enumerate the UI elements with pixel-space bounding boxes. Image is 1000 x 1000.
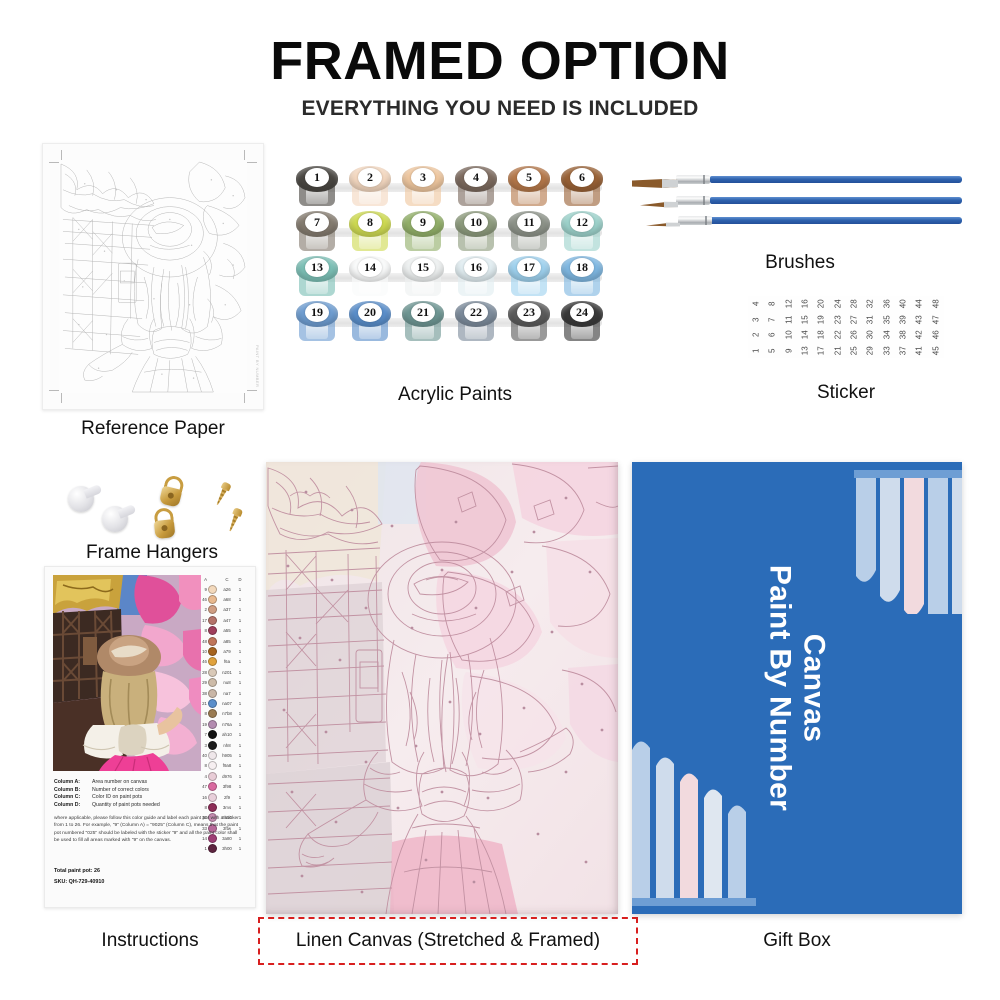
- reference-paper-image: PAINT BY NUMBER: [42, 143, 264, 410]
- legend-area-number: 40: [199, 753, 207, 758]
- sticker-number: 12: [781, 296, 797, 312]
- legend-row: 19n76a1: [199, 719, 249, 729]
- legend-area-number: 29: [199, 680, 207, 685]
- legend-row: 3nh81: [199, 740, 249, 750]
- paint-pot-9: 9: [402, 211, 444, 253]
- sticker-number: 25: [846, 342, 862, 358]
- paint-pot-number: 6: [570, 168, 594, 187]
- legend-color-swatch: [208, 761, 217, 770]
- sticker-number: 5: [765, 342, 781, 358]
- legend-header-row: A C D: [199, 575, 249, 584]
- legend-color-swatch: [208, 782, 217, 791]
- sticker-number: 42: [912, 327, 928, 343]
- instructions-card-image: A C D 9a26146a6812a37117a4718a55148a8511…: [44, 566, 256, 908]
- legend-rows-container: 9a26146a6812a37117a4718a55148a85110a7914…: [199, 584, 249, 854]
- sticker-number: 17: [814, 342, 830, 358]
- legend-quantity: 1: [237, 670, 243, 675]
- instructions-column-key-label: Column A:: [54, 779, 88, 787]
- instructions-column-row: Column A:Area number on canvas: [54, 779, 204, 787]
- sticker-number: 29: [863, 342, 879, 358]
- legend-color-id: n201: [218, 670, 236, 675]
- legend-color-id: a85: [218, 639, 236, 644]
- legend-color-swatch: [208, 637, 217, 646]
- paint-pot-7: 7: [296, 211, 338, 253]
- paint-pot-16: 16: [455, 256, 497, 298]
- paint-pot-24: 24: [561, 301, 603, 343]
- brush-round-medium: [640, 196, 962, 205]
- paint-pot-18: 18: [561, 256, 603, 298]
- sticker-number: 32: [863, 296, 879, 312]
- sticker-number: 36: [879, 296, 895, 312]
- sticker-number: 24: [830, 296, 846, 312]
- legend-area-number: 4: [199, 774, 207, 779]
- legend-color-swatch: [208, 844, 217, 853]
- legend-quantity: 1: [237, 607, 243, 612]
- instructions-column-key: Column A:Area number on canvasColumn B:N…: [54, 779, 204, 809]
- legend-row: 83ms1: [199, 802, 249, 812]
- legend-color-swatch: [208, 803, 217, 812]
- legend-color-swatch: [208, 647, 217, 656]
- paint-pot-number: 19: [305, 303, 329, 322]
- paint-pot-row: 789101112: [296, 211, 614, 255]
- legend-color-id: a55: [218, 628, 236, 633]
- legend-quantity: 1: [237, 597, 243, 602]
- paint-pot-1: 1: [296, 166, 338, 208]
- brush-bristles: [640, 196, 680, 214]
- legend-color-swatch: [208, 626, 217, 635]
- legend-row: 46a681: [199, 594, 249, 604]
- paint-pot-number: 14: [358, 258, 382, 277]
- legend-area-number: 46: [199, 659, 207, 664]
- legend-row: 473f981: [199, 781, 249, 791]
- legend-area-number: 3: [199, 743, 207, 748]
- sticker-number: 37: [895, 342, 911, 358]
- paint-pot-number: 13: [305, 258, 329, 277]
- caption-sticker: Sticker: [746, 382, 946, 404]
- legend-color-swatch: [208, 772, 217, 781]
- legend-color-swatch: [208, 657, 217, 666]
- legend-header-d: D: [237, 577, 243, 582]
- legend-area-number: 2: [199, 607, 207, 612]
- gift-box-title-line1: Canvas: [798, 634, 831, 743]
- legend-area-number: 9: [199, 587, 207, 592]
- legend-area-number: 17: [199, 618, 207, 623]
- instructions-column-value: Number of correct colors: [92, 787, 149, 795]
- legend-color-swatch: [208, 678, 217, 687]
- sticker-number: 13: [797, 342, 813, 358]
- paint-pot-number: 3: [411, 168, 435, 187]
- sticker-number: 9: [781, 342, 797, 358]
- legend-quantity: 1: [237, 618, 243, 623]
- paint-pot-number: 24: [570, 303, 594, 322]
- caption-linen-canvas: Linen Canvas (Stretched & Framed): [258, 930, 638, 952]
- legend-quantity: 1: [237, 628, 243, 633]
- legend-quantity: 1: [237, 846, 243, 851]
- legend-row: 28n2011: [199, 667, 249, 677]
- legend-area-number: 21: [199, 701, 207, 706]
- paint-pot-21: 21: [402, 301, 444, 343]
- caption-reference-paper: Reference Paper: [42, 418, 264, 440]
- legend-color-id: f9a8: [218, 763, 236, 768]
- legend-color-id: 2f9: [218, 795, 236, 800]
- legend-quantity: 1: [237, 732, 243, 737]
- legend-row: 9a261: [199, 584, 249, 594]
- legend-color-swatch: [208, 699, 217, 708]
- sticker-number: 39: [895, 311, 911, 327]
- sticker-number: 44: [912, 296, 928, 312]
- legend-color-swatch: [208, 668, 217, 677]
- sticker-number: 34: [879, 327, 895, 343]
- paint-pot-11: 11: [508, 211, 550, 253]
- paint-pot-17: 17: [508, 256, 550, 298]
- sticker-number: 8: [765, 296, 781, 312]
- legend-quantity: 1: [237, 753, 243, 758]
- sticker-number: 35: [879, 311, 895, 327]
- brushes-image: [632, 175, 962, 237]
- legend-color-id: f6a: [218, 659, 236, 664]
- paint-pot-number: 8: [358, 213, 382, 232]
- caption-instructions: Instructions: [44, 930, 256, 952]
- legend-quantity: 1: [237, 587, 243, 592]
- product-infographic: FRAMED OPTION EVERYTHING YOU NEED IS INC…: [0, 0, 1000, 1000]
- legend-row: 10a791: [199, 646, 249, 656]
- reference-line-art: [59, 160, 247, 393]
- legend-header-b-spacer: [208, 575, 217, 584]
- instructions-note: where applicable, please follow this col…: [54, 815, 244, 845]
- legend-color-swatch: [208, 616, 217, 625]
- brush-bristles: [646, 216, 682, 234]
- sticker-number: 33: [879, 342, 895, 358]
- page-subtitle: EVERYTHING YOU NEED IS INCLUDED: [0, 98, 1000, 119]
- legend-color-id: a37: [218, 607, 236, 612]
- sticker-number: 21: [830, 342, 846, 358]
- paint-pot-row: 123456: [296, 166, 614, 210]
- legend-color-id: a68: [218, 597, 236, 602]
- instructions-column-value: Color ID on paint pots: [92, 794, 142, 802]
- caption-brushes: Brushes: [700, 252, 900, 274]
- legend-row: 2a371: [199, 605, 249, 615]
- paint-pot-13: 13: [296, 256, 338, 298]
- legend-quantity: 1: [237, 701, 243, 706]
- legend-area-number: 1: [199, 846, 207, 851]
- legend-color-id: nh8: [218, 743, 236, 748]
- legend-row: 8a551: [199, 626, 249, 636]
- legend-color-id: n7b8: [218, 711, 236, 716]
- sticker-number: 23: [830, 311, 846, 327]
- paint-pot-number: 23: [517, 303, 541, 322]
- paint-pot-number: 12: [570, 213, 594, 232]
- brush-flat: [632, 175, 962, 184]
- linen-canvas-image: [266, 462, 618, 914]
- gift-box-band-bottom: [632, 898, 756, 906]
- paint-pot-number: 10: [464, 213, 488, 232]
- legend-color-id: a47: [218, 618, 236, 623]
- legend-quantity: 1: [237, 784, 243, 789]
- legend-row: 29nu81: [199, 678, 249, 688]
- legend-color-id: h905: [218, 753, 236, 758]
- paint-pot-19: 19: [296, 301, 338, 343]
- legend-color-swatch: [208, 751, 217, 760]
- reference-watermark: PAINT BY NUMBER: [255, 345, 260, 387]
- sticker-number: 15: [797, 311, 813, 327]
- legend-color-id: a79: [218, 649, 236, 654]
- legend-row: 8n7b81: [199, 709, 249, 719]
- gift-box-title-line2: Paint By Number: [764, 565, 797, 811]
- legend-quantity: 1: [237, 691, 243, 696]
- sticker-number: 31: [863, 311, 879, 327]
- paint-pot-6: 6: [561, 166, 603, 208]
- legend-row: 8f9a81: [199, 761, 249, 771]
- instructions-sku: SKU: QH-729-40910: [54, 878, 104, 887]
- legend-quantity: 1: [237, 743, 243, 748]
- brush-bristles: [632, 175, 680, 193]
- paint-pot-row: 192021222324: [296, 301, 614, 345]
- legend-row: 38na71: [199, 688, 249, 698]
- caption-acrylic-paints: Acrylic Paints: [296, 384, 614, 406]
- brush-round-fine: [646, 216, 962, 225]
- sticker-number: 1: [748, 342, 764, 358]
- legend-color-swatch: [208, 595, 217, 604]
- legend-area-number: 28: [199, 670, 207, 675]
- legend-quantity: 1: [237, 659, 243, 664]
- legend-color-swatch: [208, 793, 217, 802]
- paint-pot-number: 5: [517, 168, 541, 187]
- sticker-number: 46: [928, 327, 944, 343]
- sticker-number: 18: [814, 327, 830, 343]
- legend-color-id: n76a: [218, 722, 236, 727]
- sticker-number: 4: [748, 296, 764, 312]
- legend-color-id: 3ms: [218, 805, 236, 810]
- legend-quantity: 1: [237, 774, 243, 779]
- sticker-number: 11: [781, 311, 797, 327]
- screw: [213, 481, 232, 507]
- instructions-column-key-label: Column C:: [54, 794, 88, 802]
- caption-frame-hangers: Frame Hangers: [44, 542, 260, 564]
- legend-color-swatch: [208, 709, 217, 718]
- legend-area-number: 8: [199, 711, 207, 716]
- legend-color-id: ah10: [218, 732, 236, 737]
- paint-pot-number: 21: [411, 303, 435, 322]
- legend-row: 162f91: [199, 792, 249, 802]
- gift-box-band-top: [854, 470, 962, 478]
- legend-quantity: 1: [237, 795, 243, 800]
- legend-color-swatch: [208, 741, 217, 750]
- paint-pot-23: 23: [508, 301, 550, 343]
- gift-box-image: Canvas Paint By Number: [632, 462, 962, 914]
- sticker-number: 27: [846, 311, 862, 327]
- legend-row: 40h9051: [199, 750, 249, 760]
- paint-pot-22: 22: [455, 301, 497, 343]
- legend-area-number: 7: [199, 732, 207, 737]
- instructions-column-key-label: Column B:: [54, 787, 88, 795]
- instructions-column-row: Column D:Quantity of paint pots needed: [54, 802, 204, 810]
- legend-quantity: 1: [237, 680, 243, 685]
- instructions-column-row: Column B:Number of correct colors: [54, 787, 204, 795]
- sticker-number: 20: [814, 296, 830, 312]
- legend-color-id: d976: [218, 774, 236, 779]
- legend-header-c: C: [218, 577, 236, 582]
- legend-area-number: 46: [199, 597, 207, 602]
- paint-pot-number: 15: [411, 258, 435, 277]
- legend-quantity: 1: [237, 639, 243, 644]
- paint-pot-number: 9: [411, 213, 435, 232]
- wall-plug: [102, 506, 128, 532]
- legend-color-swatch: [208, 585, 217, 594]
- paint-pot-number: 1: [305, 168, 329, 187]
- paint-pot-number: 22: [464, 303, 488, 322]
- sticker-number: 41: [912, 342, 928, 358]
- instructions-column-row: Column C:Color ID on paint pots: [54, 794, 204, 802]
- caption-gift-box: Gift Box: [632, 930, 962, 952]
- gift-box-title: Canvas Paint By Number: [763, 565, 830, 811]
- sticker-number: 48: [928, 296, 944, 312]
- sticker-number: 14: [797, 327, 813, 343]
- paint-pot-row: 131415161718: [296, 256, 614, 300]
- d-ring-hanger: [159, 474, 188, 508]
- sticker-number: 28: [846, 296, 862, 312]
- sticker-number: 2: [748, 327, 764, 343]
- paint-pot-8: 8: [349, 211, 391, 253]
- paint-pot-number: 20: [358, 303, 382, 322]
- paint-pot-number: 11: [517, 213, 541, 232]
- legend-row: 13h001: [199, 844, 249, 854]
- sticker-number: 47: [928, 311, 944, 327]
- instructions-column-value: Area number on canvas: [92, 779, 147, 787]
- instructions-column-value: Quantity of paint pots needed: [92, 802, 160, 810]
- paint-pot-4: 4: [455, 166, 497, 208]
- legend-color-id: a26: [218, 587, 236, 592]
- legend-quantity: 1: [237, 763, 243, 768]
- wall-plug: [68, 486, 94, 512]
- legend-color-id: 3h00: [218, 846, 236, 851]
- frame-hangers-image: [66, 470, 256, 538]
- legend-quantity: 1: [237, 711, 243, 716]
- legend-row: 7ah101: [199, 729, 249, 739]
- legend-area-number: 19: [199, 722, 207, 727]
- sticker-number: 6: [765, 327, 781, 343]
- sticker-number: 38: [895, 327, 911, 343]
- legend-row: 46f6a1: [199, 657, 249, 667]
- paint-pot-10: 10: [455, 211, 497, 253]
- paint-pot-number: 2: [358, 168, 382, 187]
- legend-color-id: nu8: [218, 680, 236, 685]
- screw: [226, 507, 243, 533]
- legend-row: 21na071: [199, 698, 249, 708]
- legend-color-swatch: [208, 720, 217, 729]
- paint-pot-number: 7: [305, 213, 329, 232]
- sticker-number-grid: 4812162024283236404448371115192327313539…: [748, 296, 944, 358]
- legend-color-swatch: [208, 689, 217, 698]
- paint-pot-15: 15: [402, 256, 444, 298]
- legend-row: 4d9761: [199, 771, 249, 781]
- legend-quantity: 1: [237, 722, 243, 727]
- legend-color-swatch: [208, 730, 217, 739]
- legend-color-id: na7: [218, 691, 236, 696]
- legend-color-swatch: [208, 605, 217, 614]
- sticker-number: 19: [814, 311, 830, 327]
- legend-area-number: 38: [199, 691, 207, 696]
- sticker-number: 43: [912, 311, 928, 327]
- paint-pot-20: 20: [349, 301, 391, 343]
- instructions-reference-artwork: [53, 575, 201, 771]
- sticker-number: 26: [846, 327, 862, 343]
- instructions-column-key-label: Column D:: [54, 802, 88, 810]
- legend-color-id: na07: [218, 701, 236, 706]
- page-title: FRAMED OPTION: [0, 34, 1000, 88]
- legend-row: 48a851: [199, 636, 249, 646]
- paint-pot-number: 4: [464, 168, 488, 187]
- sticker-number: 45: [928, 342, 944, 358]
- sticker-sheet-image: 4812162024283236404448371115192327313539…: [748, 296, 944, 358]
- legend-area-number: 8: [199, 763, 207, 768]
- paint-pot-12: 12: [561, 211, 603, 253]
- legend-area-number: 8: [199, 628, 207, 633]
- paint-pot-2: 2: [349, 166, 391, 208]
- d-ring-hanger: [152, 507, 177, 539]
- sticker-number: 30: [863, 327, 879, 343]
- paint-pot-number: 18: [570, 258, 594, 277]
- sticker-number: 10: [781, 327, 797, 343]
- legend-color-id: 3f98: [218, 784, 236, 789]
- legend-area-number: 10: [199, 649, 207, 654]
- paint-pot-14: 14: [349, 256, 391, 298]
- paint-pot-5: 5: [508, 166, 550, 208]
- sticker-number: 3: [748, 311, 764, 327]
- paint-pot-number: 17: [517, 258, 541, 277]
- paint-pot-number: 16: [464, 258, 488, 277]
- legend-area-number: 48: [199, 639, 207, 644]
- paint-pot-3: 3: [402, 166, 444, 208]
- acrylic-paints-image: 123456789101112131415161718192021222324: [296, 166, 614, 358]
- sticker-number: 40: [895, 296, 911, 312]
- instructions-total-paint-pot: Total paint pot: 26: [54, 867, 100, 876]
- legend-quantity: 1: [237, 649, 243, 654]
- sticker-number: 7: [765, 311, 781, 327]
- legend-row: 17a471: [199, 615, 249, 625]
- legend-header-a: A: [199, 577, 207, 582]
- sticker-number: 22: [830, 327, 846, 343]
- legend-quantity: 1: [237, 805, 243, 810]
- sticker-number: 16: [797, 296, 813, 312]
